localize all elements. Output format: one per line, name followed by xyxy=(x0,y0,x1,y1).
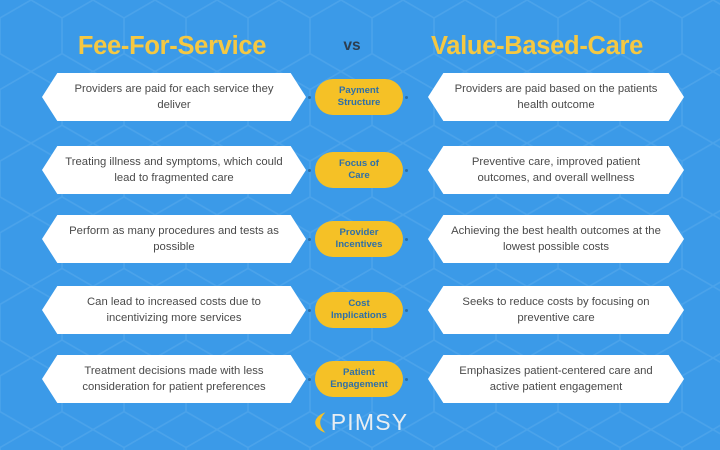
connector-dot-right xyxy=(403,355,410,403)
comparison-row: Can lead to increased costs due to incen… xyxy=(0,286,720,334)
connector-dot-right xyxy=(403,73,410,121)
comparison-row: Treatment decisions made with less consi… xyxy=(0,355,720,403)
category-badge-line1: Cost xyxy=(348,298,369,310)
value-based-care-text: Emphasizes patient-centered care and act… xyxy=(450,363,662,395)
fee-for-service-card: Perform as many procedures and tests as … xyxy=(42,215,306,263)
fee-for-service-card: Treating illness and symptoms, which cou… xyxy=(42,146,306,194)
fee-for-service-card: Providers are paid for each service they… xyxy=(42,73,306,121)
comparison-row: Providers are paid for each service they… xyxy=(0,73,720,121)
connector-dot-left xyxy=(306,146,313,194)
connector-dot-left xyxy=(306,286,313,334)
category-badge[interactable]: Focus of Care xyxy=(315,152,403,188)
fee-for-service-card: Treatment decisions made with less consi… xyxy=(42,355,306,403)
pimsy-crescent-icon xyxy=(312,411,329,434)
category-badge-line2: Care xyxy=(348,170,369,182)
fee-for-service-text: Perform as many procedures and tests as … xyxy=(64,223,284,255)
category-badge-line1: Provider xyxy=(340,227,379,239)
connector-dot-left xyxy=(306,215,313,263)
connector-dot-right xyxy=(403,215,410,263)
value-based-care-text: Preventive care, improved patient outcom… xyxy=(450,154,662,186)
fee-for-service-text: Treating illness and symptoms, which cou… xyxy=(64,154,284,186)
infographic-canvas: Fee-For-Service vs Value-Based-Care Prov… xyxy=(0,0,720,450)
footer-logo: PIMSY xyxy=(0,409,720,436)
value-based-care-text: Seeks to reduce costs by focusing on pre… xyxy=(450,294,662,326)
fee-for-service-text: Treatment decisions made with less consi… xyxy=(64,363,284,395)
category-badge-line1: Patient xyxy=(343,367,375,379)
category-badge[interactable]: Provider Incentives xyxy=(315,221,403,257)
category-badge[interactable]: Cost Implications xyxy=(315,292,403,328)
fee-for-service-text: Can lead to increased costs due to incen… xyxy=(64,294,284,326)
value-based-care-text: Providers are paid based on the patients… xyxy=(450,81,662,113)
versus-label: vs xyxy=(322,37,382,55)
category-badge[interactable]: Patient Engagement xyxy=(315,361,403,397)
value-based-care-text: Achieving the best health outcomes at th… xyxy=(450,223,662,255)
connector-dot-left xyxy=(306,73,313,121)
category-badge-line2: Engagement xyxy=(330,379,388,391)
value-based-care-card: Preventive care, improved patient outcom… xyxy=(428,146,684,194)
connector-dot-right xyxy=(403,286,410,334)
fee-for-service-text: Providers are paid for each service they… xyxy=(64,81,284,113)
header: Fee-For-Service vs Value-Based-Care xyxy=(0,26,720,66)
category-badge-line1: Payment xyxy=(339,85,379,97)
fee-for-service-card: Can lead to increased costs due to incen… xyxy=(42,286,306,334)
comparison-row: Treating illness and symptoms, which cou… xyxy=(0,146,720,194)
category-badge-line2: Incentives xyxy=(336,239,383,251)
page-title-left: Fee-For-Service xyxy=(22,32,322,61)
page-title-right: Value-Based-Care xyxy=(382,32,692,61)
brand-name: PIMSY xyxy=(331,409,409,436)
connector-dot-left xyxy=(306,355,313,403)
category-badge-line1: Focus of xyxy=(339,158,379,170)
value-based-care-card: Emphasizes patient-centered care and act… xyxy=(428,355,684,403)
value-based-care-card: Achieving the best health outcomes at th… xyxy=(428,215,684,263)
value-based-care-card: Providers are paid based on the patients… xyxy=(428,73,684,121)
category-badge[interactable]: Payment Structure xyxy=(315,79,403,115)
category-badge-line2: Structure xyxy=(338,97,381,109)
connector-dot-right xyxy=(403,146,410,194)
category-badge-line2: Implications xyxy=(331,310,387,322)
comparison-row: Perform as many procedures and tests as … xyxy=(0,215,720,263)
value-based-care-card: Seeks to reduce costs by focusing on pre… xyxy=(428,286,684,334)
